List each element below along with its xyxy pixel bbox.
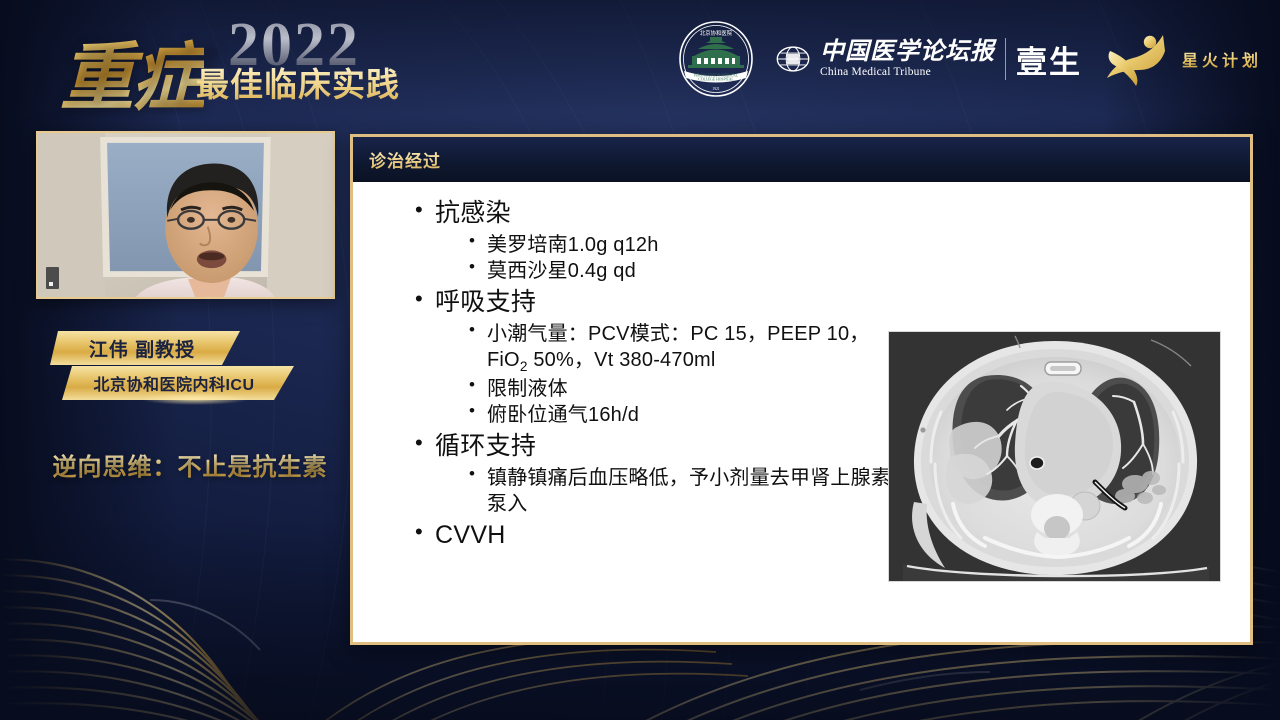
slide-body: 抗感染 美罗培南1.0g q12h 莫西沙星0.4g qd 呼吸支持 — [353, 182, 1250, 645]
event-masthead: 2022 重症 最佳临床实践 — [0, 0, 470, 125]
speaker-affiliation: 北京协和医院内科ICU — [62, 371, 294, 395]
sub-bullet-text: 小潮气量：PCV模式：PC 15，PEEP 10，FiO2 50%，Vt 380… — [487, 321, 893, 376]
vent-settings-part-b: 50%，Vt 380-470ml — [528, 349, 716, 371]
spark-bird-icon — [1102, 31, 1176, 87]
sub-bullet-item: 小潮气量：PCV模式：PC 15，PEEP 10，FiO2 50%，Vt 380… — [467, 321, 893, 376]
bullet-item: 抗感染 美罗培南1.0g q12h 莫西沙星0.4g qd — [413, 198, 893, 284]
sub-bullet-list: 小潮气量：PCV模式：PC 15，PEEP 10，FiO2 50%，Vt 380… — [467, 321, 893, 428]
talk-title: 逆向思维：不止是抗生素 — [40, 447, 340, 482]
spark-program-label: 星火计划 — [1182, 47, 1262, 71]
china-medical-tribune-logo: 中国医学论坛报 China Medical Tribune 壹生 — [776, 37, 1082, 82]
recording-badge-icon — [46, 267, 59, 289]
speaker-name-ribbon: 江伟 副教授 — [50, 331, 240, 365]
slide-stage: 2022 重症 最佳临床实践 北京协和医院 — [0, 0, 1280, 720]
bullet-text: CVVH — [435, 521, 506, 549]
speaker-affiliation-ribbon: 北京协和医院内科ICU — [62, 366, 294, 400]
sub-bullet-item: 俯卧位通气16h/d — [467, 402, 893, 428]
sub-bullet-text: 美罗培南1.0g q12h — [487, 232, 893, 258]
slide-header-bar: 诊治经过 — [353, 137, 1250, 182]
speaker-video-panel[interactable] — [36, 131, 335, 299]
bullet-item: 呼吸支持 小潮气量：PCV模式：PC 15，PEEP 10，FiO2 50%，V… — [413, 287, 893, 428]
sub-bullet-text: 俯卧位通气16h/d — [487, 402, 893, 428]
spark-program-logo: 星火计划 — [1102, 31, 1262, 87]
globe-icon — [776, 42, 810, 76]
speaker-name: 江伟 副教授 — [50, 335, 240, 362]
sub-bullet-item: 莫西沙星0.4g qd — [467, 258, 893, 284]
bullet-text: 循环支持 — [435, 432, 536, 460]
bullet-item: CVVH — [413, 520, 893, 551]
svg-text:1921: 1921 — [712, 87, 719, 91]
tribune-name-en: China Medical Tribune — [820, 67, 995, 79]
sponsor-logo-bar: 北京协和医院 PEKING UNION MEDICAL COLLEGE HOSP… — [676, 16, 1262, 102]
masthead-brand: 重症 — [60, 18, 204, 125]
slide-title: 诊治经过 — [369, 147, 441, 172]
logo-divider — [1005, 38, 1006, 80]
sub-bullet-text: 限制液体 — [487, 376, 893, 402]
sub-bullet-item: 镇静镇痛后血压略低，予小剂量去甲肾上腺素泵入 — [467, 465, 893, 517]
sub-bullet-text: 镇静镇痛后血压略低，予小剂量去甲肾上腺素泵入 — [487, 465, 893, 517]
sub-bullet-list: 美罗培南1.0g q12h 莫西沙星0.4g qd — [467, 232, 893, 284]
sub-bullet-item: 美罗培南1.0g q12h — [467, 232, 893, 258]
fio2-subscript: 2 — [520, 359, 528, 374]
speaker-webcam-feed — [38, 133, 333, 299]
chest-ct-image — [888, 331, 1221, 582]
hospital-crest-icon: 北京协和医院 PEKING UNION MEDICAL COLLEGE HOSP… — [676, 19, 756, 99]
slide-bullet-list: 抗感染 美罗培南1.0g q12h 莫西沙星0.4g qd 呼吸支持 — [413, 198, 893, 551]
tribune-name-cn: 中国医学论坛报 — [820, 40, 995, 64]
svg-text:COLLEGE HOSPITAL: COLLEGE HOSPITAL — [698, 78, 734, 82]
sub-bullet-list: 镇静镇痛后血压略低，予小剂量去甲肾上腺素泵入 — [467, 465, 893, 517]
presentation-slide: 诊治经过 抗感染 美罗培南1.0g q12h 莫西沙星0.4g qd — [350, 134, 1253, 645]
svg-text:北京协和医院: 北京协和医院 — [700, 29, 733, 37]
bullet-item: 循环支持 镇静镇痛后血压略低，予小剂量去甲肾上腺素泵入 — [413, 431, 893, 517]
sub-bullet-text: 莫西沙星0.4g qd — [487, 258, 893, 284]
sub-bullet-item: 限制液体 — [467, 376, 893, 402]
bullet-text: 抗感染 — [435, 199, 511, 227]
masthead-subtitle: 最佳临床实践 — [196, 58, 400, 106]
tribune-sub-brand: 壹生 — [1016, 37, 1082, 82]
bullet-text: 呼吸支持 — [435, 288, 536, 316]
